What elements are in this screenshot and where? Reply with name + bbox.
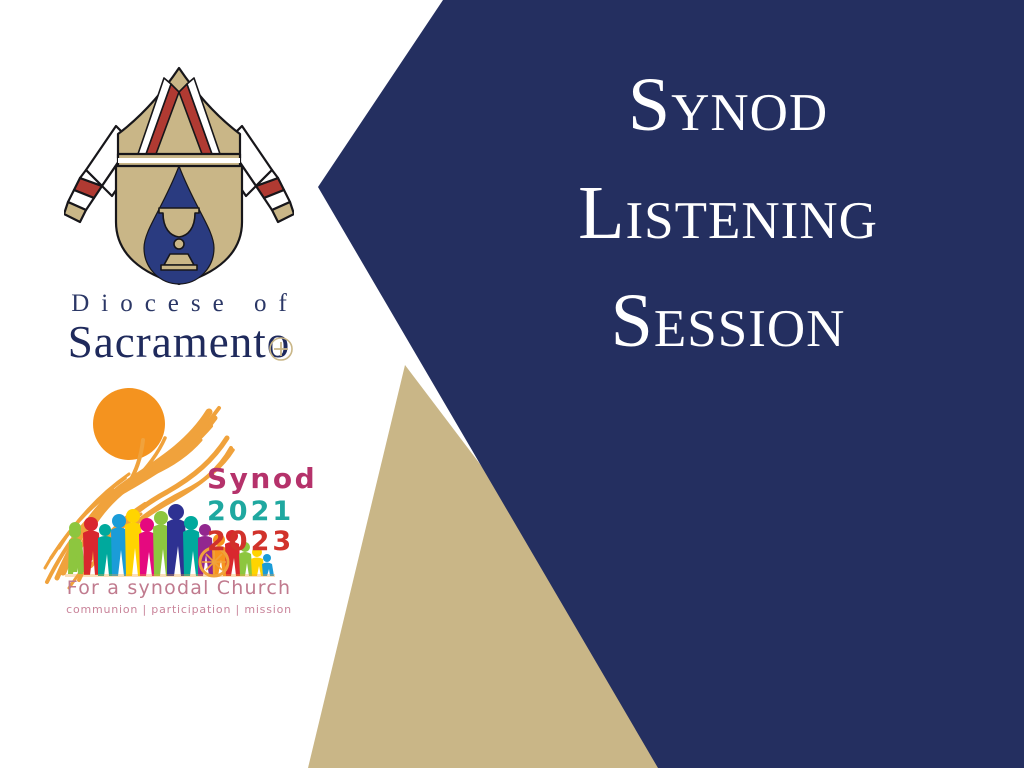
- slide-title: Synod Listening Session: [452, 52, 1004, 376]
- synod-year-start: 2021: [207, 496, 294, 527]
- title-line-1: Synod: [452, 52, 1004, 160]
- mitre-icon: [118, 68, 240, 170]
- synod-subtitle: communion | participation | mission: [66, 603, 292, 616]
- cross-icon: [268, 336, 294, 362]
- diocese-wordmark: Diocese of Sacramento: [14, 290, 344, 366]
- synod-tagline: For a synodal Church: [67, 577, 291, 599]
- shield-icon: [116, 166, 242, 284]
- diocese-of-sacramento-logo: Diocese of Sacramento: [14, 58, 344, 366]
- diocese-line-1: Diocese of: [14, 290, 344, 319]
- sun-icon: [93, 388, 165, 460]
- title-line-3: Session: [452, 268, 1004, 376]
- synod-heading: Synod: [207, 462, 317, 495]
- presentation-slide: Synod Listening Session: [0, 0, 1024, 768]
- synod-logo: Synod 2021 2023 For a synodal Church com…: [33, 382, 325, 622]
- coat-of-arms-icon: [64, 58, 294, 288]
- title-line-2: Listening: [452, 160, 1004, 268]
- synod-year-end: 2023: [207, 526, 294, 557]
- diocese-line-2: Sacramento: [68, 319, 290, 366]
